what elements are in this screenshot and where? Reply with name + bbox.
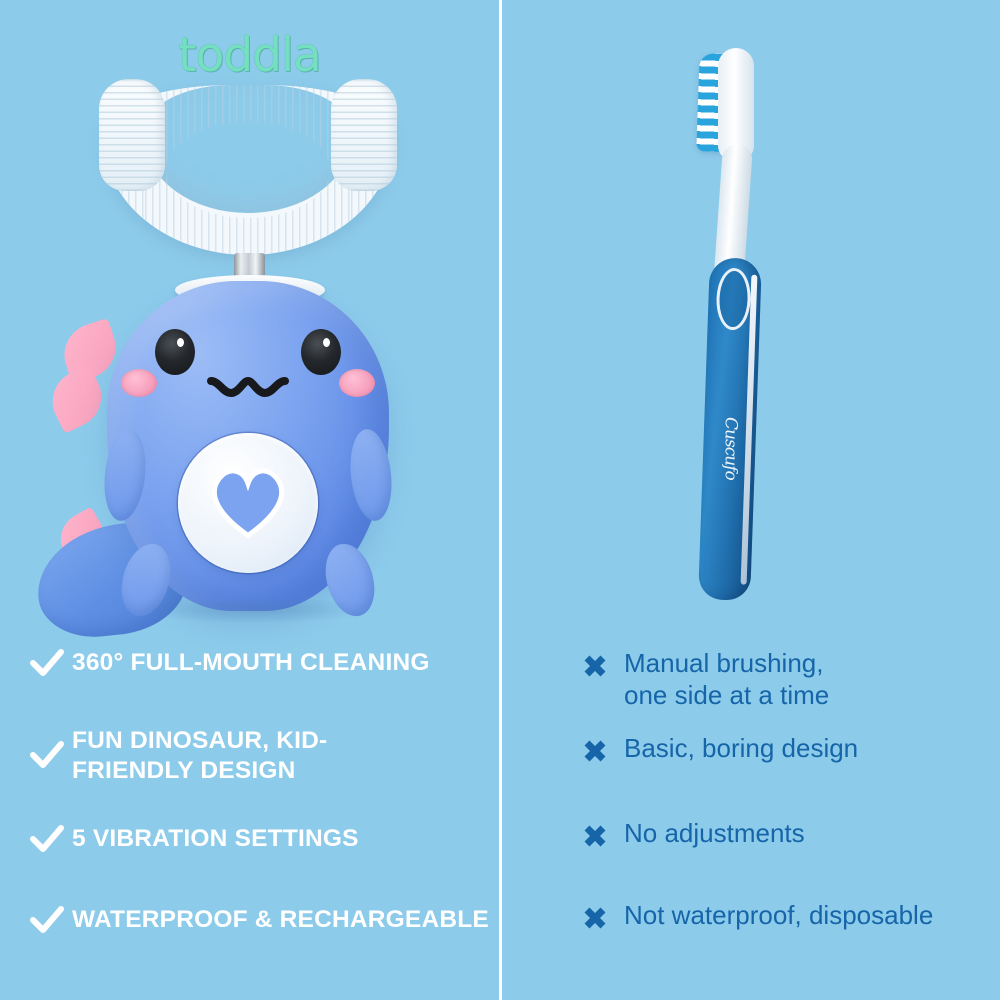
brush-head-arm-left	[99, 79, 165, 191]
thumb-grip	[715, 267, 751, 330]
brand-logo: toddla	[0, 28, 499, 83]
electric-toothbrush-image	[45, 85, 455, 630]
handle-brand-script: Cuscufo	[721, 417, 741, 459]
cross-icon	[582, 900, 624, 931]
brush-head-arm-right	[331, 79, 397, 191]
left-panel: toddla	[0, 0, 499, 1000]
cross-icon	[582, 733, 624, 764]
list-item: WATERPROOF & RECHARGEABLE	[30, 905, 489, 935]
dino-cheek-left	[121, 369, 157, 397]
list-item-label: Basic, boring design	[624, 733, 858, 765]
cross-icon	[582, 818, 624, 849]
check-icon	[30, 905, 72, 935]
list-item: Manual brushing, one side at a time	[582, 648, 829, 711]
comparison-infographic: toddla	[0, 0, 1000, 1000]
dino-arm-right	[346, 427, 395, 523]
list-item-label: 5 VIBRATION SETTINGS	[72, 824, 359, 854]
list-item-label: WATERPROOF & RECHARGEABLE	[72, 905, 489, 935]
dino-eye-right	[301, 329, 341, 375]
dino-cheek-right	[339, 369, 375, 397]
list-item-label: FUN DINOSAUR, KID- FRIENDLY DESIGN	[72, 726, 327, 786]
dino-mouth-icon	[205, 373, 291, 408]
check-icon	[30, 824, 72, 854]
check-icon	[30, 726, 72, 770]
dino-eye-left	[155, 329, 195, 375]
product-shadow	[135, 597, 375, 623]
right-panel: Cuscufo Manual brushing, one side at a t…	[502, 0, 1000, 1000]
heart-icon[interactable]	[206, 463, 290, 539]
list-item: FUN DINOSAUR, KID- FRIENDLY DESIGN	[30, 726, 327, 786]
cross-icon	[582, 648, 624, 679]
list-item-label: No adjustments	[624, 818, 805, 850]
dino-body	[107, 281, 389, 611]
dino-spike	[42, 364, 112, 434]
list-item: Basic, boring design	[582, 733, 858, 765]
manual-toothbrush-image: Cuscufo	[660, 40, 840, 630]
list-item: 360° FULL-MOUTH CLEANING	[30, 648, 430, 678]
u-shaped-brush-head	[103, 85, 393, 255]
list-item-label: 360° FULL-MOUTH CLEANING	[72, 648, 430, 678]
power-button-ring[interactable]	[178, 433, 318, 573]
toothbrush-handle: Cuscufo	[698, 257, 762, 601]
list-item-label: Not waterproof, disposable	[624, 900, 933, 932]
check-icon	[30, 648, 72, 678]
list-item-label: Manual brushing, one side at a time	[624, 648, 829, 711]
list-item: No adjustments	[582, 818, 805, 850]
dino-arm-left	[100, 427, 149, 523]
list-item: Not waterproof, disposable	[582, 900, 933, 932]
list-item: 5 VIBRATION SETTINGS	[30, 824, 359, 854]
